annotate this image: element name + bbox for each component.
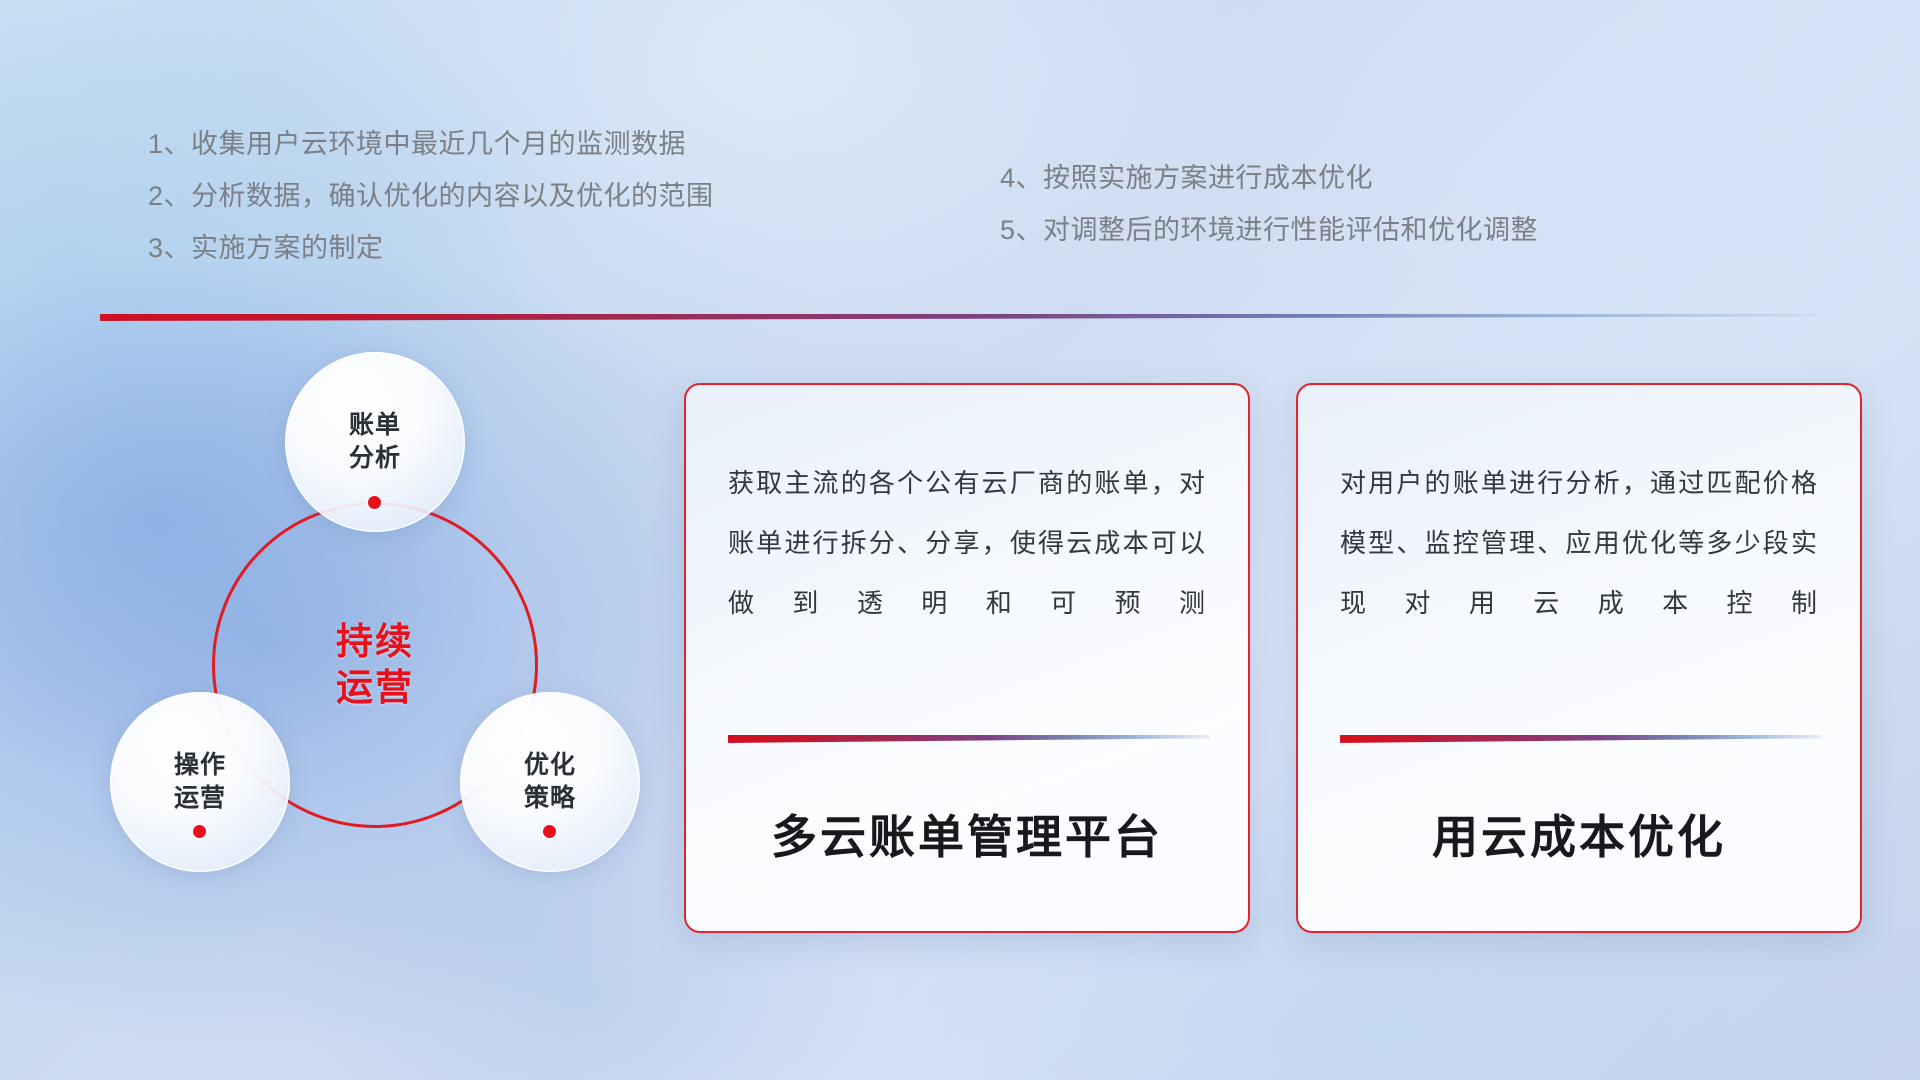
card-divider-rule — [728, 735, 1210, 743]
node-label-line2: 分析 — [349, 442, 401, 475]
connector-dot-top-icon — [368, 496, 381, 509]
step-item: 2、分析数据，确认优化的内容以及优化的范围 — [148, 170, 714, 222]
card-divider-rule — [1340, 735, 1822, 743]
card-title: 用云成本优化 — [1298, 801, 1860, 867]
card-body-text: 对用户的账单进行分析，通过匹配价格模型、监控管理、应用优化等多少段实现对用云成本… — [1298, 385, 1860, 633]
connector-dot-right-icon — [543, 825, 556, 838]
slide-canvas: 1、收集用户云环境中最近几个月的监测数据 2、分析数据，确认优化的内容以及优化的… — [0, 0, 1920, 1080]
step-item: 4、按照实施方案进行成本优化 — [1000, 152, 1538, 204]
card-multi-cloud-bill-platform[interactable]: 获取主流的各个公有云厂商的账单，对账单进行拆分、分享，使得云成本可以做到透明和可… — [684, 383, 1250, 933]
center-label-line1: 持续 — [336, 619, 414, 665]
card-title: 多云账单管理平台 — [686, 801, 1248, 867]
card-body-text: 获取主流的各个公有云厂商的账单，对账单进行拆分、分享，使得云成本可以做到透明和可… — [686, 385, 1248, 633]
continuous-operation-diagram: 账单 分析 操作 运营 优化 策略 持续 运营 — [100, 352, 660, 952]
section-divider-rule — [100, 314, 1820, 321]
steps-left-column: 1、收集用户云环境中最近几个月的监测数据 2、分析数据，确认优化的内容以及优化的… — [148, 118, 714, 274]
step-item: 1、收集用户云环境中最近几个月的监测数据 — [148, 118, 714, 170]
connector-dot-left-icon — [193, 825, 206, 838]
step-item: 3、实施方案的制定 — [148, 222, 714, 274]
node-label-line1: 账单 — [349, 409, 401, 442]
center-label-line2: 运营 — [336, 665, 414, 711]
steps-right-column: 4、按照实施方案进行成本优化 5、对调整后的环境进行性能评估和优化调整 — [1000, 152, 1538, 256]
diagram-center-label: 持续 运营 — [212, 502, 538, 828]
step-item: 5、对调整后的环境进行性能评估和优化调整 — [1000, 204, 1538, 256]
card-cloud-cost-optimization[interactable]: 对用户的账单进行分析，通过匹配价格模型、监控管理、应用优化等多少段实现对用云成本… — [1296, 383, 1862, 933]
